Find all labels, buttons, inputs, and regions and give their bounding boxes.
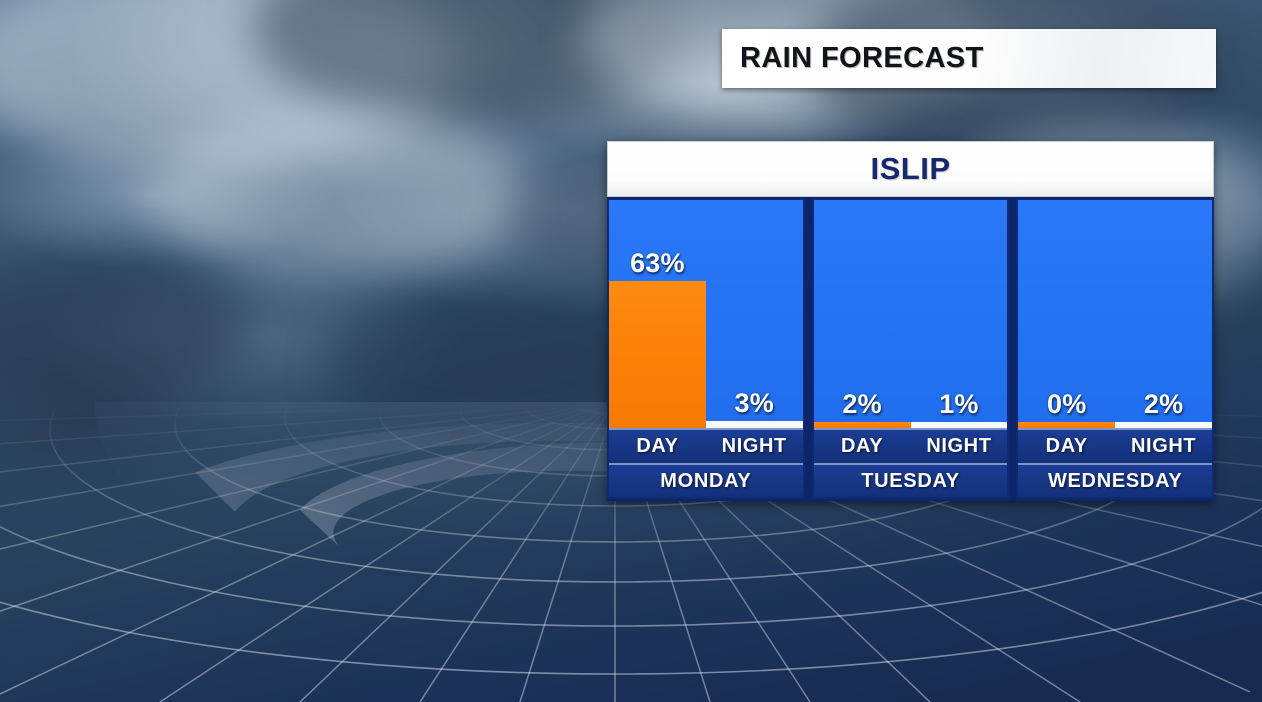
- forecast-panel-tuesday[interactable]: 2%1%DAYNIGHTTUESDAY: [812, 198, 1010, 499]
- bar-slot-day: 2%: [814, 200, 911, 428]
- bar-monday-night[interactable]: 3%: [706, 421, 803, 428]
- cloud-highlight-3: [151, 112, 530, 280]
- legend-day: DAY: [1018, 430, 1115, 463]
- bar-slot-night: 2%: [1115, 200, 1212, 428]
- weekday-label: WEDNESDAY: [1048, 470, 1182, 493]
- bar-fill: [911, 422, 1008, 428]
- day-night-legend-strip: DAYNIGHT: [609, 428, 803, 463]
- page-title: RAIN FORECAST: [740, 42, 984, 75]
- bar-fill: [1115, 422, 1212, 428]
- rain-forecast-card: ISLIP 63%3%DAYNIGHTMONDAY2%1%DAYNIGHTTUE…: [607, 141, 1214, 501]
- bar-fill: [706, 421, 803, 428]
- weekday-strip[interactable]: TUESDAY: [814, 463, 1008, 497]
- weekday-strip[interactable]: WEDNESDAY: [1018, 463, 1212, 497]
- bar-slot-night: 1%: [911, 200, 1008, 428]
- bar-value-label: 1%: [911, 389, 1008, 420]
- city-header: ISLIP: [607, 141, 1214, 197]
- bar-fill: [814, 422, 911, 428]
- bar-fill: [1018, 422, 1115, 428]
- bar-slot-night: 3%: [706, 200, 803, 428]
- day-night-legend-strip: DAYNIGHT: [1018, 428, 1212, 463]
- legend-night: NIGHT: [911, 430, 1008, 463]
- bar-wednesday-night[interactable]: 2%: [1115, 422, 1212, 428]
- forecast-panel-wednesday[interactable]: 0%2%DAYNIGHTWEDNESDAY: [1016, 198, 1214, 499]
- bar-value-label: 2%: [1115, 389, 1212, 420]
- forecast-panel-monday[interactable]: 63%3%DAYNIGHTMONDAY: [607, 198, 805, 499]
- title-banner: RAIN FORECAST: [722, 29, 1216, 88]
- bar-wednesday-day[interactable]: 0%: [1018, 422, 1115, 428]
- bar-monday-day[interactable]: 63%: [609, 281, 706, 428]
- bar-fill: [609, 281, 706, 428]
- bar-slot-day: 0%: [1018, 200, 1115, 428]
- day-night-legend-strip: DAYNIGHT: [814, 428, 1008, 463]
- weekday-strip[interactable]: MONDAY: [609, 463, 803, 497]
- bar-tuesday-night[interactable]: 1%: [911, 422, 1008, 428]
- legend-night: NIGHT: [1115, 430, 1212, 463]
- bar-value-label: 0%: [1018, 389, 1115, 420]
- bar-plot-area: 2%1%: [814, 200, 1008, 428]
- legend-day: DAY: [609, 430, 706, 463]
- bar-value-label: 63%: [609, 248, 706, 279]
- legend-day: DAY: [814, 430, 911, 463]
- bar-tuesday-day[interactable]: 2%: [814, 422, 911, 428]
- bar-slot-day: 63%: [609, 200, 706, 428]
- bar-value-label: 2%: [814, 389, 911, 420]
- bar-plot-area: 63%3%: [609, 200, 803, 428]
- forecast-panels: 63%3%DAYNIGHTMONDAY2%1%DAYNIGHTTUESDAY0%…: [607, 197, 1214, 501]
- bar-value-label: 3%: [706, 388, 803, 419]
- weekday-label: MONDAY: [660, 470, 751, 493]
- bar-plot-area: 0%2%: [1018, 200, 1212, 428]
- weekday-label: TUESDAY: [861, 470, 960, 493]
- legend-night: NIGHT: [706, 430, 803, 463]
- city-name: ISLIP: [870, 151, 950, 187]
